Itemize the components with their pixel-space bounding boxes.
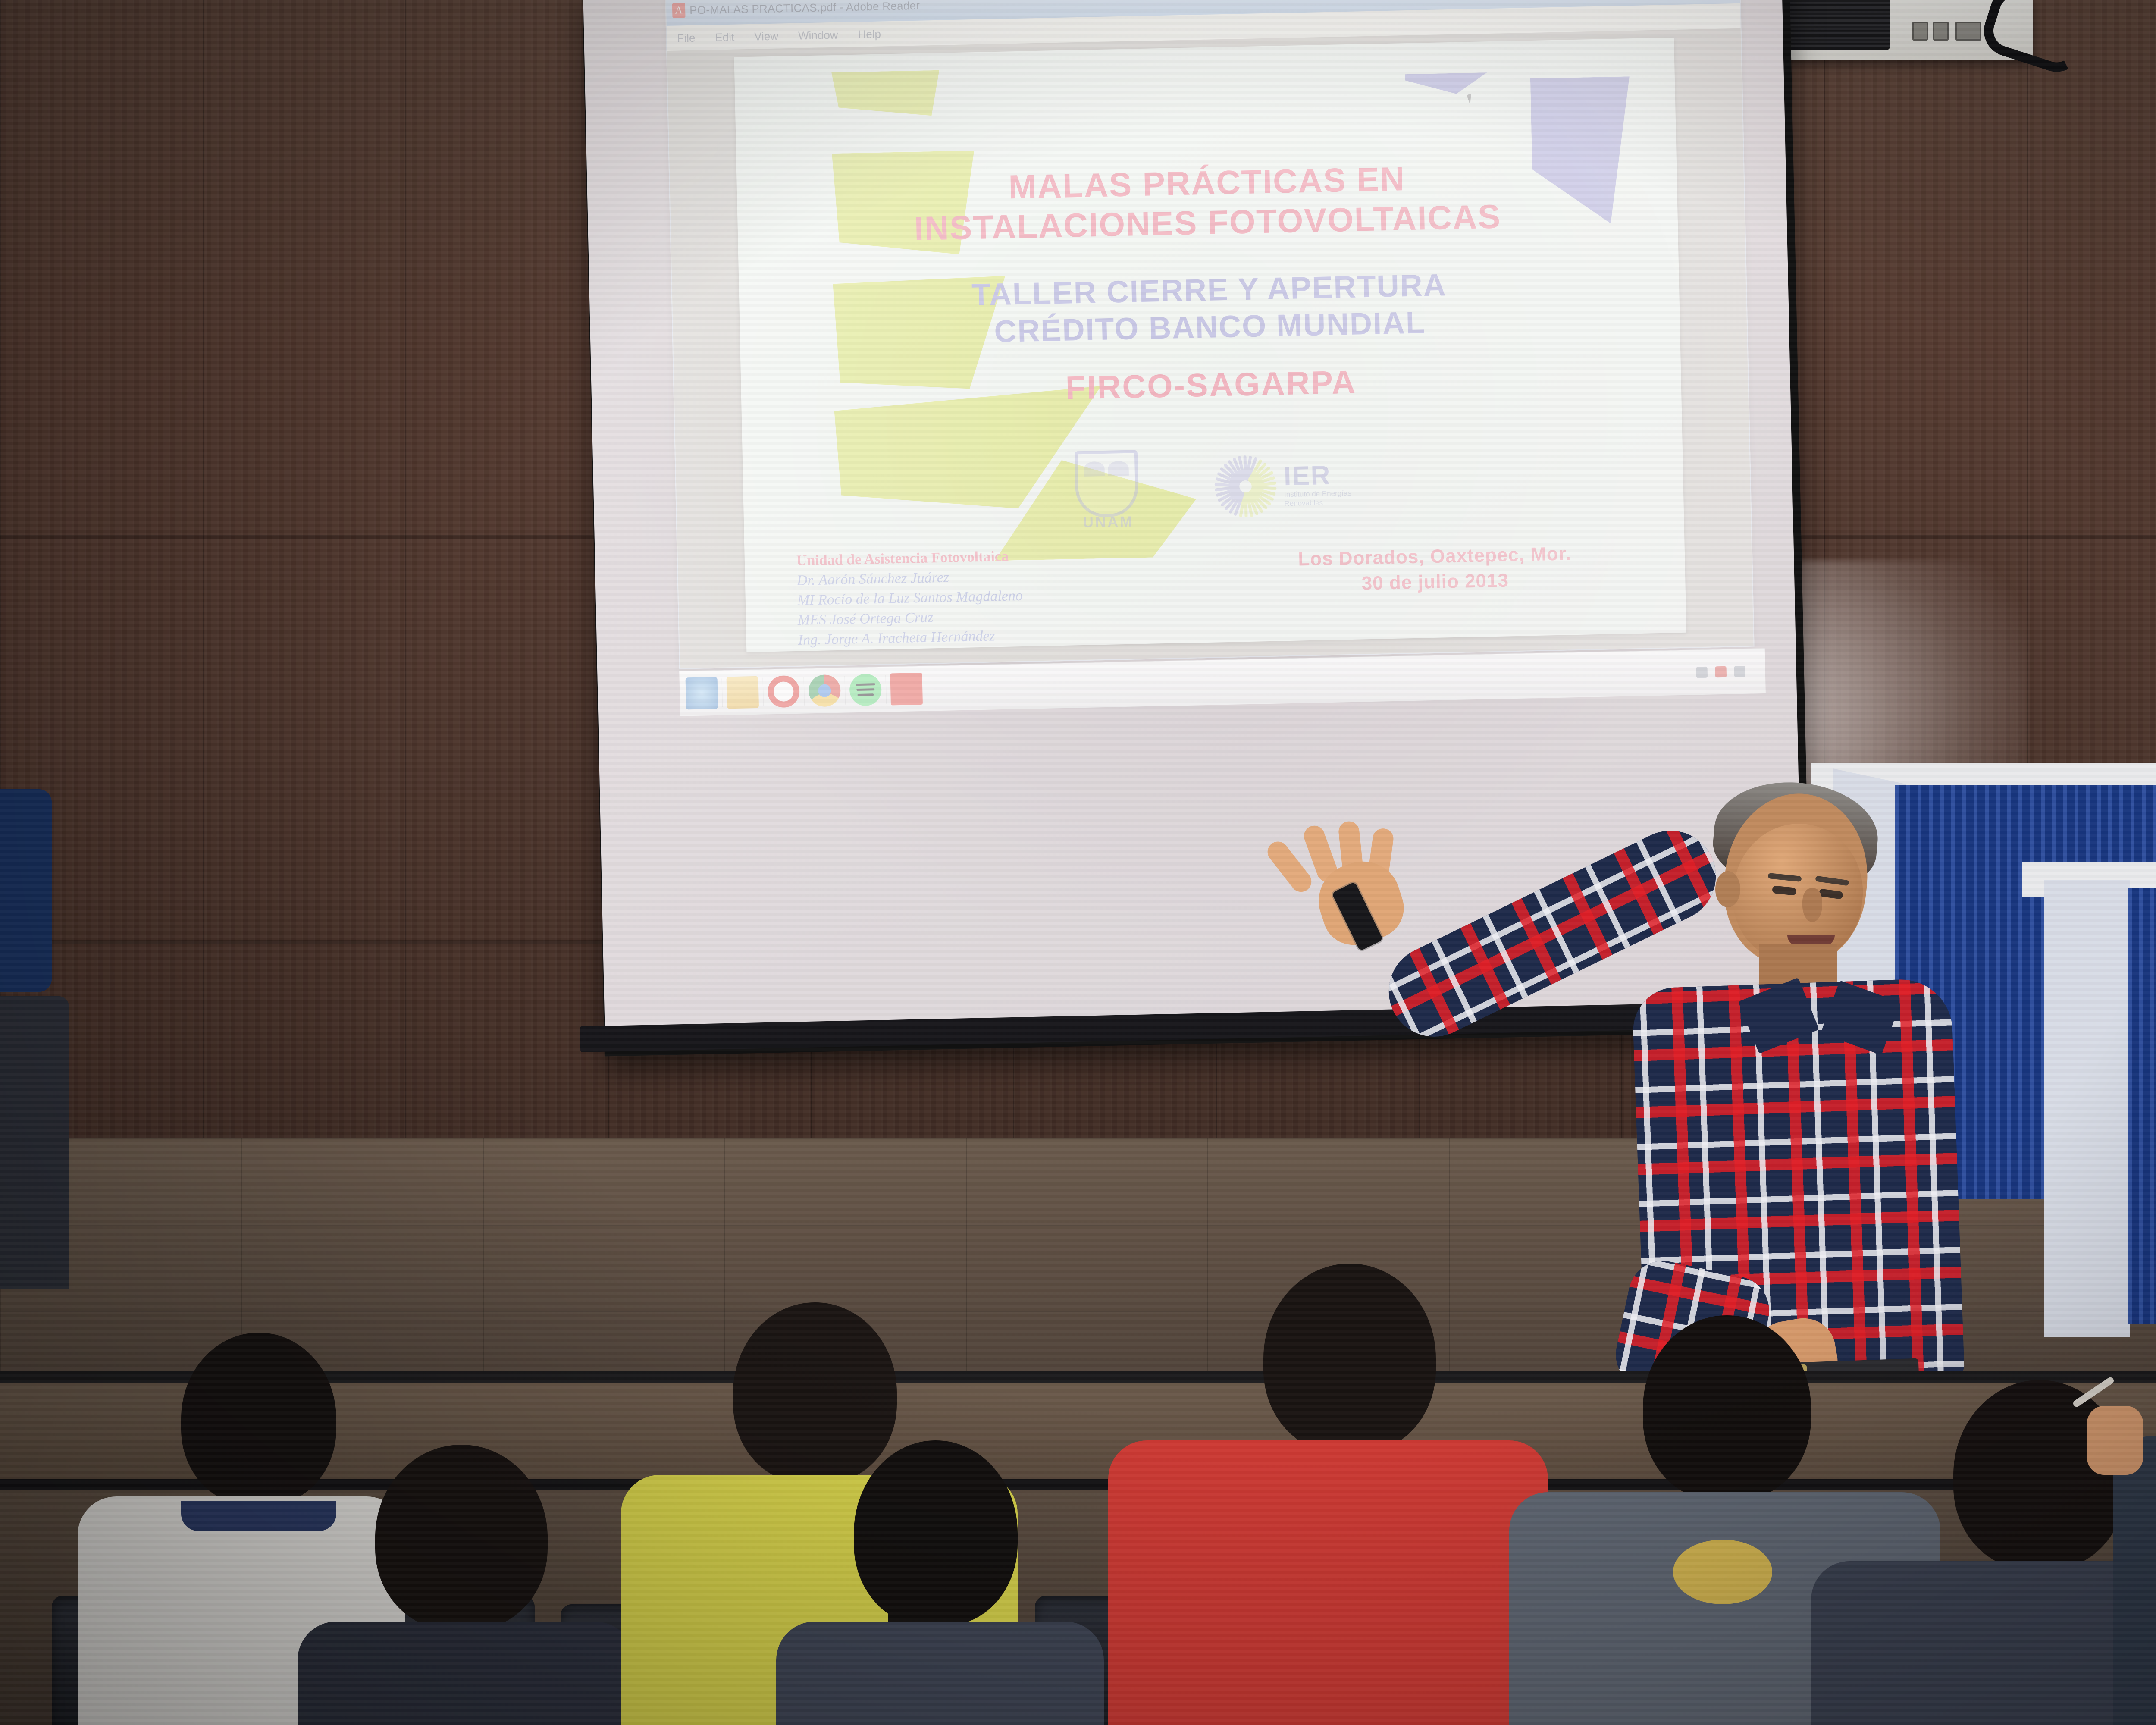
volume-icon[interactable]	[1715, 666, 1727, 678]
taskbar-divider	[845, 676, 846, 705]
taskbar-divider	[763, 678, 764, 706]
adobe-acrobat-icon	[672, 3, 686, 18]
side-chair-left	[0, 789, 52, 992]
menu-item-window[interactable]: Window	[798, 28, 838, 42]
unam-shield-icon	[1075, 450, 1139, 517]
presenter-ear	[1715, 871, 1740, 907]
stage-riser-edge	[0, 1479, 2156, 1490]
projector-port	[1955, 22, 1981, 41]
windows-start-icon[interactable]	[686, 677, 718, 710]
google-chrome-icon[interactable]	[808, 674, 841, 707]
window-title: PO-MALAS PRACTICAS.pdf - Adobe Reader	[689, 0, 920, 17]
audience-hand	[2087, 1406, 2143, 1475]
network-icon[interactable]	[1696, 667, 1708, 678]
projected-desktop: PO-MALAS PRACTICAS.pdf - Adobe Reader Fi…	[665, 0, 1754, 719]
opera-browser-icon[interactable]	[768, 675, 800, 708]
side-seat-left	[0, 996, 69, 1289]
adobe-reader-window[interactable]: PO-MALAS PRACTICAS.pdf - Adobe Reader Fi…	[665, 0, 1754, 669]
ier-logo-icon: IER Instituto de Energías Renovables	[1213, 452, 1352, 520]
menu-item-edit[interactable]: Edit	[715, 30, 734, 44]
hoodie-graphic	[1673, 1540, 1772, 1604]
purple-shape-1	[1405, 72, 1488, 95]
projector-port	[1933, 22, 1949, 41]
taskbar-divider	[722, 679, 723, 707]
file-explorer-icon[interactable]	[727, 676, 759, 709]
presenter-nose	[1802, 888, 1822, 922]
ier-logo-label: IER	[1283, 462, 1351, 490]
presentation-photo-scene: PO-MALAS PRACTICAS.pdf - Adobe Reader Fi…	[0, 0, 2156, 1725]
system-tray[interactable]	[1696, 665, 1760, 678]
mouse-cursor-icon	[1467, 92, 1478, 105]
taskbar-divider	[804, 677, 805, 706]
unam-logo-label: UNAM	[1076, 513, 1141, 531]
presenter-hand	[1294, 824, 1423, 944]
menu-item-file[interactable]: File	[677, 31, 696, 45]
slide-page: MALAS PRÁCTICAS EN INSTALACIONES FOTOVOL…	[734, 38, 1686, 652]
ier-subtext-2: Renovables	[1284, 498, 1351, 508]
ier-sunburst-icon	[1213, 454, 1279, 520]
ier-logo-text: IER Instituto de Energías Renovables	[1283, 462, 1351, 508]
slide-venue-block: Los Dorados, Oaxtepec, Mor. 30 de julio …	[1241, 540, 1630, 599]
unam-logo-icon: UNAM	[1075, 450, 1141, 529]
taskbar-divider	[886, 675, 887, 704]
action-center-icon[interactable]	[1734, 666, 1746, 677]
menu-item-view[interactable]: View	[754, 29, 779, 43]
slide-subtitle: TALLER CIERRE Y APERTURA CRÉDITO BANCO M…	[739, 262, 1680, 356]
menu-item-help[interactable]: Help	[858, 27, 881, 41]
slide-author-block: Unidad de Asistencia Fotovoltaica Dr. Aa…	[796, 546, 1024, 650]
green-shape-1	[831, 70, 940, 118]
purple-shape-5	[1684, 532, 1686, 590]
spotify-icon[interactable]	[849, 674, 882, 706]
adobe-reader-icon[interactable]	[890, 673, 923, 706]
pdf-document-area[interactable]: MALAS PRÁCTICAS EN INSTALACIONES FOTOVOL…	[667, 28, 1753, 668]
projector-port	[1912, 22, 1928, 41]
